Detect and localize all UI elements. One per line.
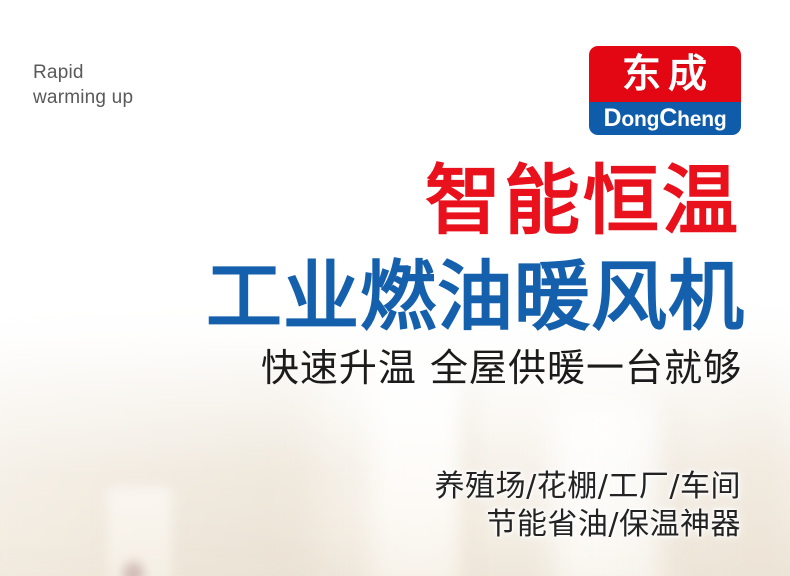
logo-text-ong: ong [621,108,659,131]
logo-letter-c: C [659,104,677,132]
logo-text-heng: heng [677,108,726,131]
usage-scenarios: 养殖场/花棚/工厂/车间 节能省油/保温神器 [435,468,741,544]
logo-red-panel: 东成 [589,46,741,102]
logo-chinese-name: 东成 [616,55,714,94]
promo-banner: Rapid warming up 东成 DongCheng 智能恒温 工业燃油暖… [0,0,790,576]
logo-english-name: DongCheng [604,106,727,131]
usage-line-1: 养殖场/花棚/工厂/车间 [435,468,741,506]
headline-subtitle: 快速升温 全屋供暖一台就够 [261,345,742,391]
headline-primary-red: 智能恒温 [425,160,741,242]
usage-line-2: 节能省油/保温神器 [435,506,741,544]
logo-blue-panel: DongCheng [589,102,741,135]
banner-content: Rapid warming up 东成 DongCheng 智能恒温 工业燃油暖… [0,0,790,576]
english-tagline: Rapid warming up [33,60,133,110]
headline-product-blue: 工业燃油暖风机 [206,256,745,338]
brand-logo: 东成 DongCheng [589,46,741,135]
logo-letter-d: D [604,104,622,132]
